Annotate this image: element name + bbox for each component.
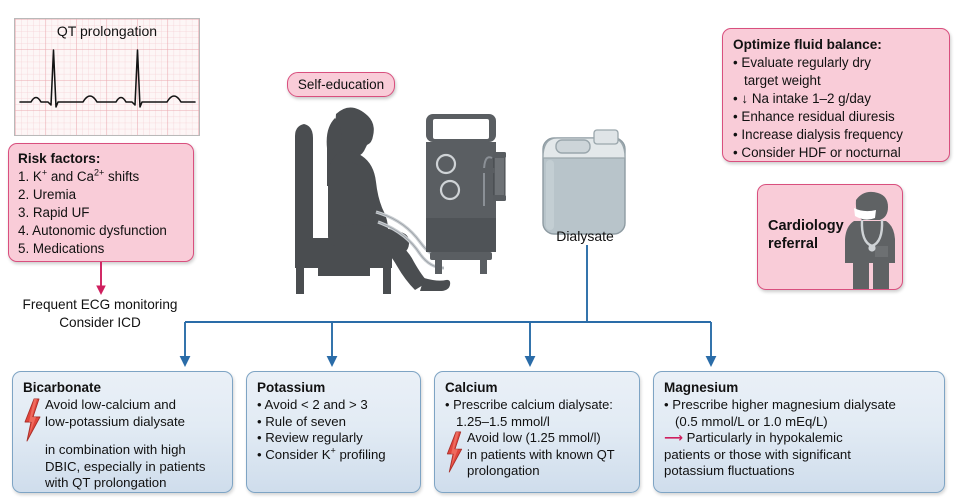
risk-factor-item: 4. Autonomic dysfunction: [18, 222, 193, 240]
risk-factors-header: Risk factors:: [18, 150, 193, 168]
ecg-title: QT prolongation: [14, 23, 200, 39]
potassium-line: • Consider K+ profiling: [257, 447, 411, 464]
calcium-line: • Prescribe calcium dialysate:: [445, 397, 630, 414]
fluid-balance-item: • ↓ Na intake 1–2 g/day: [733, 90, 949, 108]
cardiology-label-line1: Cardiology: [768, 218, 844, 234]
risk-factor-item: 2. Uremia: [18, 186, 193, 204]
magnesium-line: potassium fluctuations: [664, 463, 935, 480]
fluid-balance-item-cont: target weight: [733, 72, 949, 90]
fluid-balance-item: • Increase dialysis frequency: [733, 126, 949, 144]
magnesium-line: patients or those with significant: [664, 447, 935, 464]
calcium-line: prolongation: [467, 463, 615, 480]
warning-bolt-icon: [23, 398, 42, 442]
potassium-line: • Avoid < 2 and > 3: [257, 397, 411, 414]
prescription-box-magnesium: Magnesium • Prescribe higher magnesium d…: [653, 371, 945, 493]
bicarbonate-line: low-potassium dialysate: [45, 414, 185, 431]
fluid-balance-item: • Consider HDF or nocturnal: [733, 144, 949, 162]
risk-factor-item: 1. K+ and Ca2+ shifts: [18, 168, 193, 186]
fluid-balance-item: • Enhance residual diuresis: [733, 108, 949, 126]
calcium-line: Avoid low (1.25 mmol/l): [467, 430, 615, 447]
magnesium-line: • Prescribe higher magnesium dialysate: [664, 397, 935, 414]
connector-tree: [0, 245, 955, 375]
calcium-title: Calcium: [445, 379, 630, 396]
fluid-balance-box: Optimize fluid balance: • Evaluate regul…: [722, 28, 950, 162]
potassium-line: • Rule of seven: [257, 414, 411, 431]
risk-factor-item: 3. Rapid UF: [18, 204, 193, 222]
potassium-line: • Review regularly: [257, 430, 411, 447]
potassium-title: Potassium: [257, 379, 411, 396]
bicarbonate-line: Avoid low-calcium and: [45, 397, 185, 414]
prescription-box-calcium: Calcium • Prescribe calcium dialysate: 1…: [434, 371, 640, 493]
bicarbonate-line: with QT prolongation: [45, 475, 223, 492]
prescription-box-bicarbonate: Bicarbonate Avoid low-calcium and low-po…: [12, 371, 233, 493]
warning-bolt-icon: [445, 431, 464, 473]
fluid-balance-header: Optimize fluid balance:: [733, 36, 949, 54]
calcium-line: 1.25–1.5 mmol/l: [445, 414, 630, 431]
self-education-label: Self-education: [298, 77, 384, 92]
bicarbonate-line: in combination with high: [45, 442, 223, 459]
bicarbonate-line: DBIC, especially in patients: [45, 459, 223, 476]
magnesium-line: ⟶ ➜ Particularly in hypokalemicParticula…: [664, 430, 935, 447]
prescription-box-potassium: Potassium • Avoid < 2 and > 3 • Rule of …: [246, 371, 421, 493]
calcium-line: in patients with known QT: [467, 447, 615, 464]
fluid-balance-item: • Evaluate regularly dry: [733, 54, 949, 72]
self-education-pill: Self-education: [287, 72, 395, 97]
magnesium-title: Magnesium: [664, 379, 935, 396]
right-arrow-icon: ⟶: [664, 430, 683, 445]
magnesium-line: (0.5 mmol/L or 1.0 mEq/L): [664, 414, 935, 431]
dialysate-label: Dialysate: [543, 228, 627, 244]
bicarbonate-title: Bicarbonate: [23, 379, 223, 396]
